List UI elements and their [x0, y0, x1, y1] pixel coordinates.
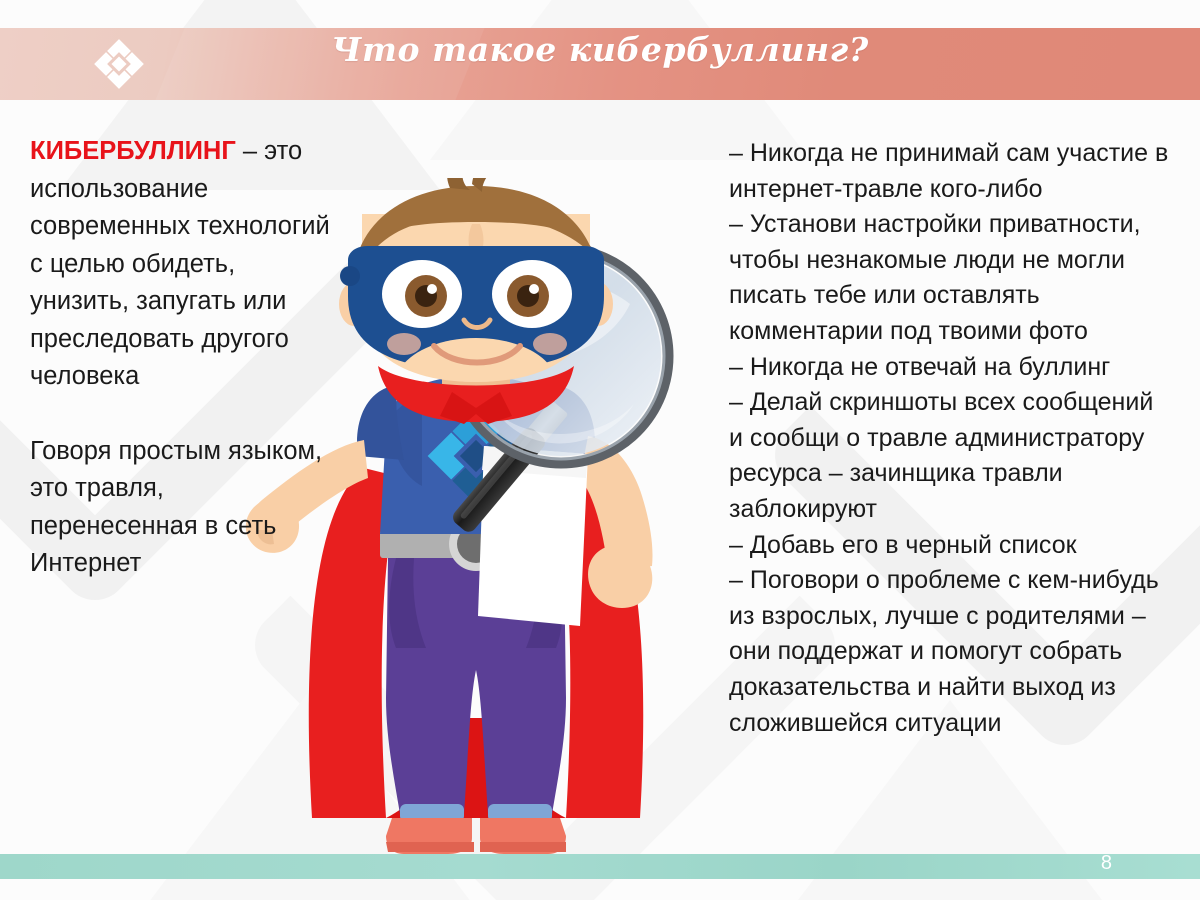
- slide-root: Что такое кибербуллинг? КИБЕРБУЛЛИНГ – э…: [0, 0, 1200, 900]
- left-text-column: КИБЕРБУЛЛИНГ – это использование совреме…: [30, 133, 335, 583]
- shoes: [386, 818, 566, 854]
- advice-bullet: – Никогда не принимай сам участие в инте…: [729, 136, 1169, 207]
- diamond-knot-logo-icon: [92, 37, 146, 91]
- cyberbullying-term: КИБЕРБУЛЛИНГ: [30, 137, 236, 165]
- advice-bullet: – Поговори о проблеме с кем-нибудь из вз…: [729, 563, 1169, 741]
- advice-bullet: – Делай скриншоты всех сообщений и сообщ…: [729, 385, 1169, 527]
- definition-rest: – это использование современных технолог…: [30, 137, 330, 390]
- simple-language-paragraph: Говоря простым языком, это травля, перен…: [30, 433, 335, 583]
- advice-bullet: – Добавь его в черный список: [729, 528, 1169, 564]
- page-number: 8: [1101, 852, 1112, 875]
- advice-bullet: – Никогда не отвечай на буллинг: [729, 350, 1169, 386]
- definition-paragraph: КИБЕРБУЛЛИНГ – это использование совреме…: [30, 133, 335, 396]
- page-title: Что такое кибербуллинг?: [0, 30, 1200, 69]
- advice-bullet: – Установи настройки приватности, чтобы …: [729, 207, 1169, 349]
- right-text-column: – Никогда не принимай сам участие в инте…: [729, 136, 1169, 741]
- head: [339, 178, 613, 382]
